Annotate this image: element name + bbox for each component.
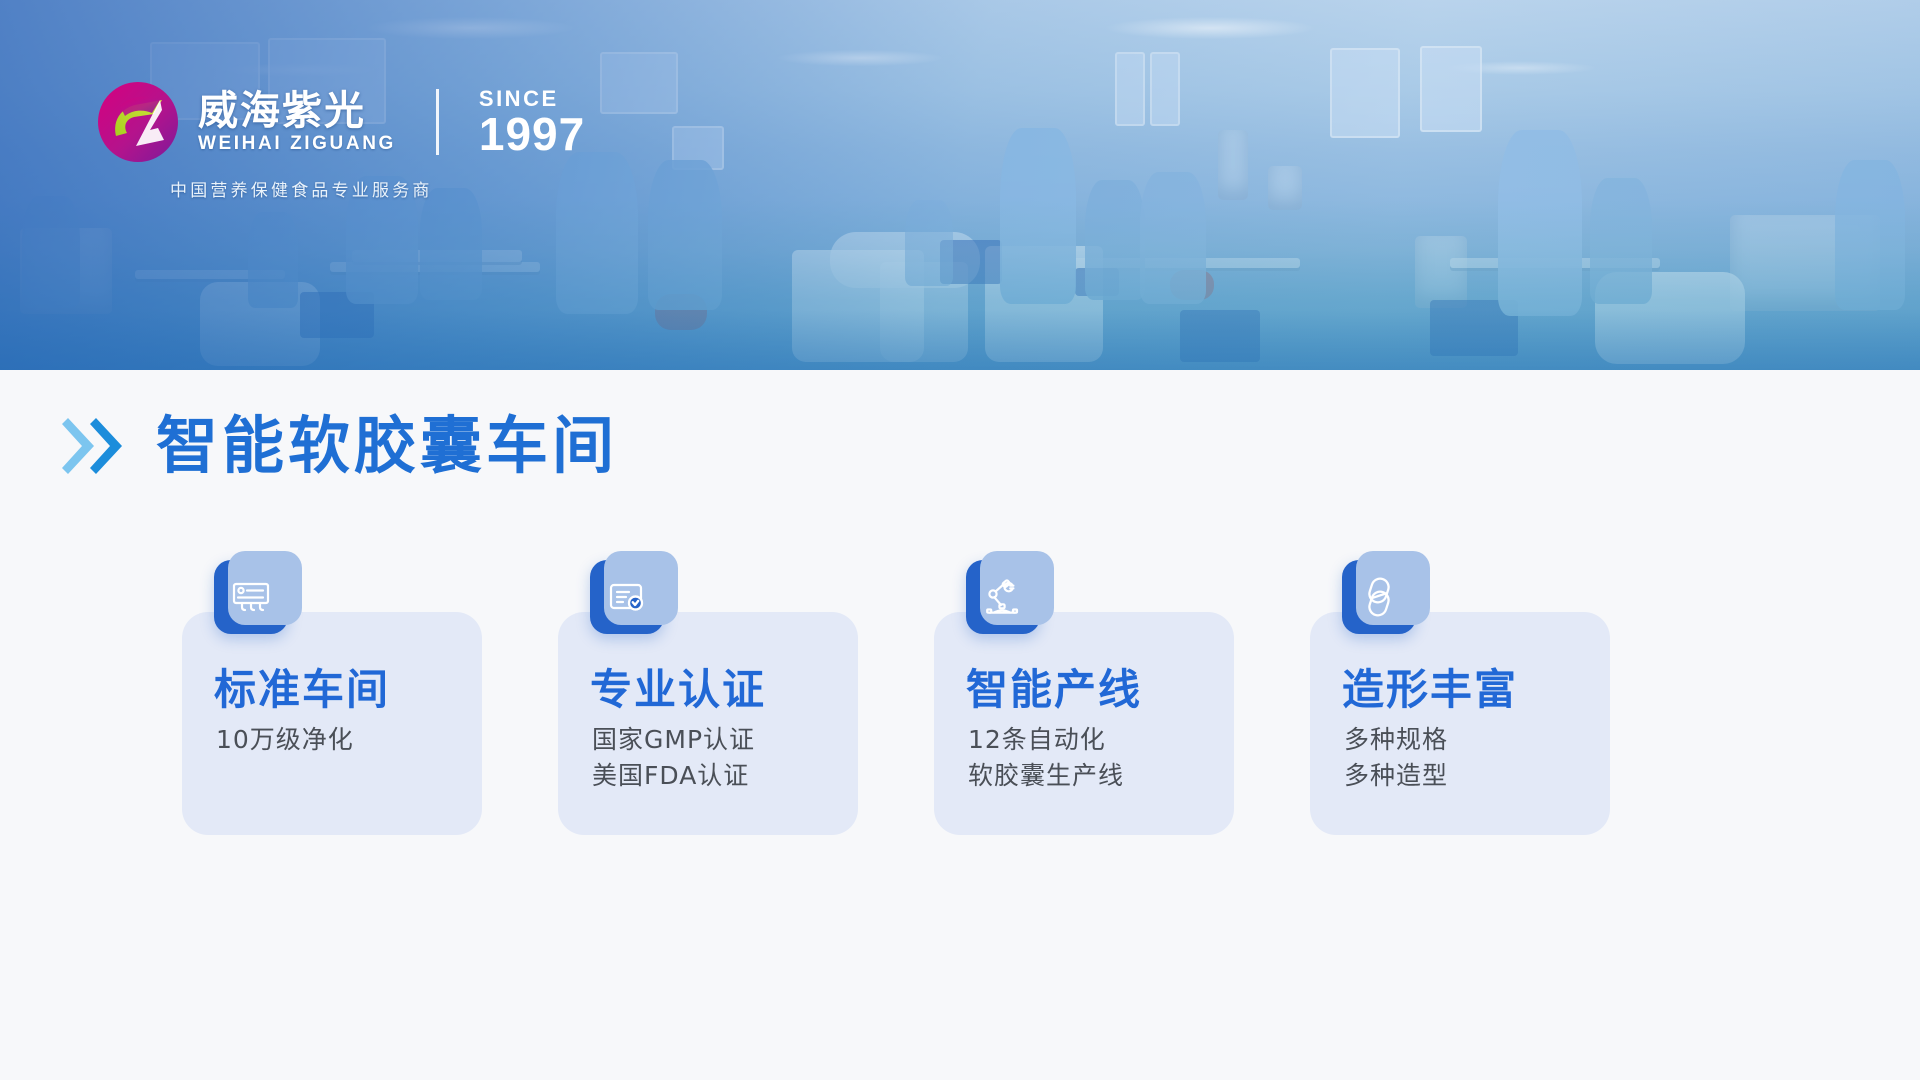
card-description: 10万级净化 [216,722,354,758]
since-label: SINCE [479,88,585,110]
feature-card-list: 标准车间 10万级净化 专业认证 国家GMP认证 美国FDA认证 [0,560,1920,835]
brand-tagline: 中国营养保健食品专业服务商 [170,176,585,201]
hero-banner: 威海紫光 WEIHAI ZIGUANG SINCE 1997 中国营养保健食品专… [0,0,1920,370]
page-title: 智能软胶囊车间 [156,415,618,477]
capsule-pill-icon [1342,560,1416,634]
ziguang-z-mark-icon [96,80,180,164]
brand-name-cn: 威海紫光 [198,90,396,132]
card-title: 造形丰富 [1342,656,1518,717]
robotic-arm-icon [966,560,1040,634]
logo-divider [436,89,439,155]
feature-card[interactable]: 智能产线 12条自动化 软胶囊生产线 [934,560,1234,835]
certificate-verified-icon [590,560,664,634]
feature-card[interactable]: 标准车间 10万级净化 [182,560,482,835]
card-title: 专业认证 [590,656,766,717]
cleanroom-air-unit-icon [214,560,288,634]
double-chevron-right-icon [60,418,126,474]
banner-bottom-fade [0,310,1920,370]
feature-card[interactable]: 专业认证 国家GMP认证 美国FDA认证 [558,560,858,835]
brand-name-en: WEIHAI ZIGUANG [198,134,396,155]
card-title: 标准车间 [214,656,390,717]
card-description: 多种规格 多种造型 [1344,722,1448,793]
page-root: 威海紫光 WEIHAI ZIGUANG SINCE 1997 中国营养保健食品专… [0,0,1920,1080]
card-title: 智能产线 [966,656,1142,717]
since-year: 1997 [479,111,585,157]
since-block: SINCE 1997 [479,88,585,157]
section-heading: 智能软胶囊车间 [60,415,618,477]
feature-card[interactable]: 造形丰富 多种规格 多种造型 [1310,560,1610,835]
card-description: 国家GMP认证 美国FDA认证 [592,722,755,793]
card-description: 12条自动化 软胶囊生产线 [968,722,1124,793]
brand-logo[interactable]: 威海紫光 WEIHAI ZIGUANG SINCE 1997 中国营养保健食品专… [96,80,585,201]
